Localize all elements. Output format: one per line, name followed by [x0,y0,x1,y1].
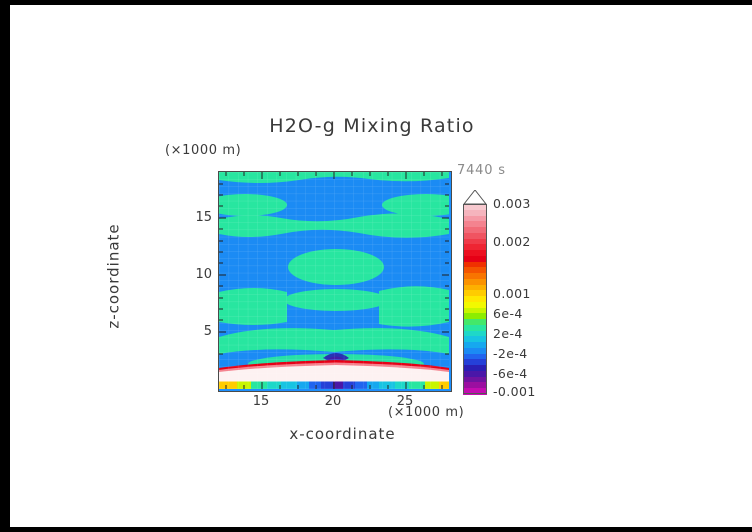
colorbar-tick-label: 0.001 [493,286,531,301]
colorbar-tick-label: -0.001 [493,384,536,399]
figure-canvas: H2O-g Mixing Ratio (×1000 m) 7440 s [10,5,752,527]
x-tick-label-15: 15 [246,394,276,409]
x-tick-label-20: 20 [318,394,348,409]
y-axis-title: z-coordinate [105,159,123,394]
colorbar-tick-label: 6e-4 [493,306,523,321]
x-axis-title: x-coordinate [225,425,460,443]
colorbar: 0.0030.0020.0016e-42e-4-2e-4-6e-4-0.001 [463,190,489,395]
time-annotation: 7440 s [457,163,506,178]
colorbar-tick-label: 0.003 [493,196,531,211]
colorbar-tick-label: 0.002 [493,234,531,249]
colorbar-tick-label: -2e-4 [493,346,528,361]
x-axis-unit-label: (×1000 m) [388,405,464,420]
y-tick-label-10: 10 [186,267,212,282]
y-axis-unit-label: (×1000 m) [165,143,241,158]
page-title: H2O-g Mixing Ratio [242,115,502,137]
colorbar-tick-label: 2e-4 [493,326,523,341]
y-tick-label-15: 15 [186,210,212,225]
colorbar-top-arrow [463,190,487,205]
colorbar-band [463,388,487,394]
colorbar-tick-label: -6e-4 [493,366,528,381]
contour-plot [218,171,452,392]
y-tick-label-5: 5 [186,324,212,339]
